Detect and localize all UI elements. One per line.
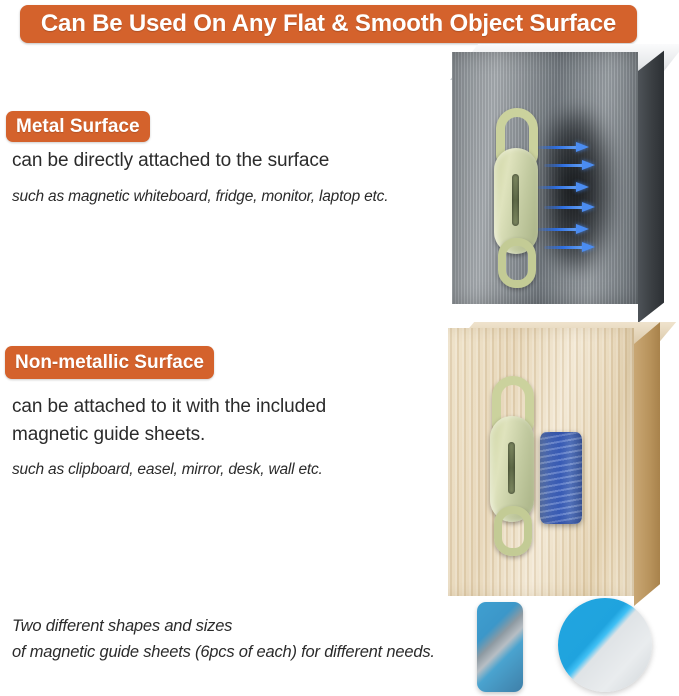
non-metallic-description-line-2: magnetic guide sheets. bbox=[12, 424, 205, 446]
hook-bottom-loop bbox=[498, 238, 536, 288]
footer-text-line-1: Two different shapes and sizes bbox=[12, 617, 232, 636]
hook-slot bbox=[512, 174, 519, 226]
section-badge-label: Non-metallic Surface bbox=[5, 352, 214, 374]
section-badge-label: Metal Surface bbox=[6, 116, 150, 138]
hook-bottom-loop bbox=[494, 506, 532, 556]
metal-surface-description: can be directly attached to the surface bbox=[12, 150, 329, 172]
section-badge-non-metallic-surface: Non-metallic Surface bbox=[5, 346, 214, 379]
green-hook-clip-on-wood bbox=[482, 374, 548, 554]
header-title: Can Be Used On Any Flat & Smooth Object … bbox=[41, 10, 616, 38]
rectangular-magnetic-guide-sheet bbox=[477, 602, 523, 692]
metal-surface-examples: such as magnetic whiteboard, fridge, mon… bbox=[12, 188, 388, 206]
metal-plate-illustration bbox=[446, 44, 679, 312]
hook-slot bbox=[508, 442, 515, 494]
circular-magnetic-guide-sheet bbox=[558, 598, 652, 692]
green-hook-clip-on-metal bbox=[486, 106, 552, 286]
wood-block-illustration bbox=[444, 322, 679, 600]
wood-block-side-face bbox=[634, 322, 660, 606]
metal-block-side-face bbox=[638, 51, 664, 323]
header-banner: Can Be Used On Any Flat & Smooth Object … bbox=[20, 5, 637, 43]
non-metallic-description-line-1: can be attached to it with the included bbox=[12, 396, 326, 418]
section-badge-metal-surface: Metal Surface bbox=[6, 111, 150, 142]
footer-text-line-2: of magnetic guide sheets (6pcs of each) … bbox=[12, 643, 435, 662]
non-metallic-surface-examples: such as clipboard, easel, mirror, desk, … bbox=[12, 461, 323, 479]
